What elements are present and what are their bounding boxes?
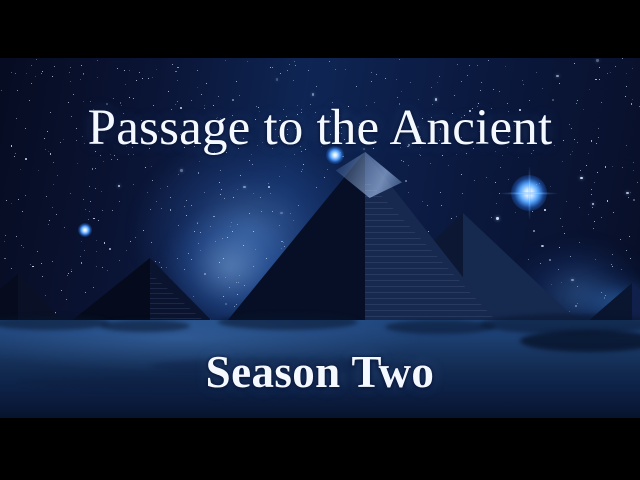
star [633,199,635,201]
star [612,166,613,167]
star [215,241,216,242]
star [236,81,237,82]
star [385,78,386,79]
letterbox-bottom [0,418,640,480]
star [170,209,172,211]
star [17,90,18,91]
star [594,182,595,183]
star [178,225,179,226]
star [586,165,587,166]
star [83,199,84,200]
star [26,73,27,74]
star [16,236,17,237]
star [199,161,200,162]
star [96,240,97,241]
star [595,79,597,81]
star [103,161,104,162]
star [622,167,623,168]
star [628,197,629,198]
star [109,248,111,250]
star [81,241,82,242]
star [270,67,271,68]
star [612,254,613,255]
star [410,82,411,83]
star [88,219,89,220]
star [592,207,593,208]
star [25,195,26,196]
star [6,200,7,201]
star [70,193,71,194]
star [544,209,546,211]
star [198,172,200,174]
star [622,58,623,59]
star [626,73,627,74]
star [11,203,12,204]
star [95,188,96,189]
star [221,189,222,190]
star [612,266,613,267]
star [239,95,240,96]
star [523,84,524,85]
star [559,83,560,84]
letterbox-top [0,0,640,58]
star [276,78,278,80]
star [574,63,575,64]
star [499,91,500,92]
star [591,189,592,190]
star [119,201,120,202]
star [98,220,99,221]
star [151,242,152,243]
star [156,69,157,70]
star [280,73,281,74]
star [197,223,198,224]
star [1,90,2,91]
star [175,71,177,73]
star [562,161,563,162]
star [145,167,146,168]
star [289,64,290,65]
star [626,192,628,194]
star [615,66,616,67]
star [200,232,201,233]
star [198,243,199,244]
star [36,59,37,60]
star [626,86,627,87]
video-frame: Passage to the Ancient Season Two [0,0,640,480]
star [160,188,161,189]
star [21,245,22,246]
star [621,269,622,270]
star [101,191,102,192]
star [186,215,187,216]
star [150,209,151,210]
star [96,251,97,252]
star [191,205,192,206]
star [143,230,144,231]
star [57,175,58,176]
star [493,89,494,90]
star [152,180,153,181]
star [53,184,54,185]
star [97,77,98,78]
star [104,242,106,244]
star [219,182,220,183]
star [632,68,633,69]
star [49,220,50,221]
star [439,76,440,77]
star [97,60,98,61]
star [630,258,631,259]
star [461,81,462,82]
star [11,72,12,73]
star [508,179,509,180]
star [477,65,478,66]
star [64,227,65,228]
star [4,241,5,242]
star [41,73,42,74]
star [214,216,215,217]
star [148,78,149,79]
season-subtitle: Season Two [0,346,640,398]
star [23,247,24,248]
star [177,80,178,81]
star [220,194,221,195]
star [126,250,127,251]
star [210,226,211,227]
star [308,70,309,71]
star [35,76,36,77]
star [130,241,131,242]
star [566,201,567,202]
star [90,201,91,202]
star [345,69,346,70]
star [38,170,40,172]
star [95,168,96,169]
star [589,89,590,90]
star [247,61,248,62]
star [225,60,226,61]
star [588,214,589,215]
star [167,186,168,187]
star [594,221,595,222]
star [625,96,626,97]
star [102,210,103,211]
star [579,207,580,208]
star [83,73,84,74]
star [599,79,600,80]
star [532,211,533,212]
star [20,169,21,170]
star [591,194,592,195]
star [467,75,468,76]
star [152,77,153,78]
star [161,208,162,209]
star [197,70,198,71]
star [469,65,470,66]
star [200,250,201,251]
star [550,186,551,187]
star [37,251,38,252]
star [31,65,32,66]
star [69,72,70,73]
star [70,81,71,82]
star [630,192,631,193]
star [597,172,598,173]
star [294,61,295,62]
rubble [385,320,495,334]
star [89,186,90,187]
star [70,67,71,68]
star [142,78,143,79]
star [139,72,140,73]
star [53,162,54,163]
star [431,87,432,88]
star [186,200,187,201]
star [18,199,19,200]
star [596,59,598,61]
star [457,64,458,65]
star [22,211,23,212]
star [542,88,543,89]
star [593,228,594,229]
star [117,68,118,69]
star [124,70,125,71]
star [117,159,118,160]
star [184,206,185,207]
star [81,65,82,66]
star [136,80,137,81]
star [481,82,482,83]
star [376,74,377,75]
bright-star-left [78,223,92,237]
star [83,74,84,75]
star [437,82,438,83]
star [180,169,182,171]
star [197,222,198,223]
star [201,94,202,95]
star [287,70,288,71]
star [206,83,207,84]
star [399,59,400,60]
star [633,170,634,171]
star [580,177,582,179]
star [129,70,130,71]
star [31,83,32,84]
star [329,61,330,62]
star [48,224,49,225]
star [204,192,205,193]
star [111,159,112,160]
star [633,162,634,163]
star [607,73,608,74]
star [396,79,397,80]
bright-star [511,175,547,211]
star [580,170,581,171]
star [85,209,86,210]
star [92,168,94,170]
star [135,237,136,238]
star [599,67,600,68]
star [172,64,173,65]
star [177,67,179,69]
star [129,97,130,98]
star [52,76,53,77]
star [197,87,198,88]
star [15,73,16,74]
star [592,203,594,205]
star [605,166,607,168]
star [272,67,273,68]
star [73,94,74,95]
star [607,200,609,202]
star [371,72,372,73]
star [80,79,81,80]
star [613,212,614,213]
star [536,72,537,73]
star [218,96,219,97]
star [93,218,95,220]
star [52,207,53,208]
star [626,250,627,251]
star [220,170,221,171]
star [112,210,113,211]
star [488,60,489,61]
star [168,91,169,92]
star [147,192,148,193]
star [194,231,195,232]
rubble [100,320,190,332]
star [188,253,189,254]
star [89,211,90,212]
star [522,80,523,81]
star [46,196,47,197]
star [54,66,55,67]
star [25,158,27,160]
star [170,197,171,198]
star [77,163,78,164]
star [118,185,120,187]
page-title: Passage to the Ancient [0,99,640,157]
star [56,214,57,215]
star [293,80,294,81]
star [601,217,602,218]
star [178,174,179,175]
star [295,65,296,66]
star [505,66,506,67]
star [5,235,6,236]
star [125,84,127,86]
star [595,259,596,260]
star [335,69,336,70]
star [84,250,85,251]
star [637,182,638,183]
star [454,95,455,96]
star [556,75,558,77]
star [133,184,134,185]
star [480,90,481,91]
star [356,86,357,87]
star [312,93,314,95]
star [371,81,372,82]
star [401,91,402,92]
star [620,239,621,240]
star [316,86,317,87]
star [629,236,630,237]
star [610,72,611,73]
star-spike [509,192,549,194]
star [151,166,152,167]
star [156,201,157,202]
rubble [218,314,358,330]
